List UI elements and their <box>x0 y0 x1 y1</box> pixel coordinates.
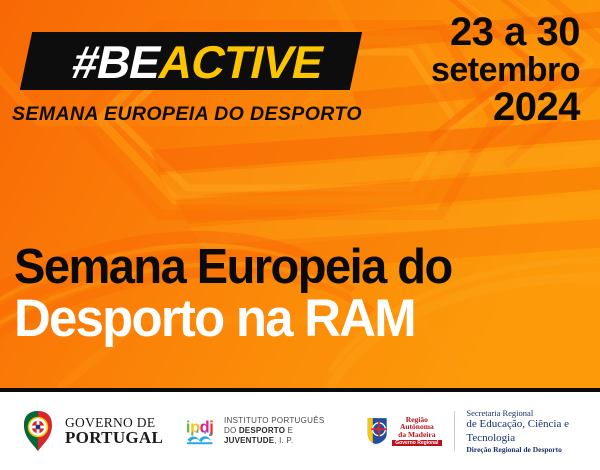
event-dates: 23 a 30 setembro 2024 <box>330 12 580 128</box>
ipdj-line-2-e: , I. P. <box>274 436 293 445</box>
beactive-hash-text: #BE <box>69 39 165 85</box>
headline-line-2: Desporto na RAM <box>14 293 571 345</box>
poster-background: #BEACTIVE SEMANA EUROPEIA DO DESPORTO 23… <box>0 0 600 388</box>
footer-logos: GOVERNO DE PORTUGAL i p d j <box>0 392 600 470</box>
date-range: 23 a 30 <box>330 12 580 53</box>
madeira-text: Região Autónoma da Madeira Governo Regio… <box>392 416 441 447</box>
ipdj-line-2-a: DO <box>224 426 239 435</box>
governo-line-1: GOVERNO DE <box>65 416 163 430</box>
logo-regiao-madeira: Região Autónoma da Madeira Governo Regio… <box>366 414 442 448</box>
portugal-flag-icon <box>18 407 58 455</box>
ipdj-line-2-c: E <box>285 426 293 435</box>
ipdj-text: INSTITUTO PORTUGUÊS DO DESPORTO E JUVENT… <box>224 416 346 446</box>
governo-portugal-text: GOVERNO DE PORTUGAL <box>65 416 163 447</box>
poster-root: #BEACTIVE SEMANA EUROPEIA DO DESPORTO 23… <box>0 0 600 470</box>
date-year: 2024 <box>330 87 580 128</box>
secretaria-line-3: Direção Regional de Desporto <box>466 445 600 454</box>
ipdj-line-2: DO DESPORTO E JUVENTUDE, I. P. <box>224 426 346 446</box>
secretaria-line-2: de Educação, Ciência e Tecnologia <box>466 418 600 445</box>
ipdj-line-2-b: DESPORTO <box>239 426 285 435</box>
logo-ipdj: i p d j INSTITUTO PORTUGUÊS DO DESPORTO … <box>185 411 346 451</box>
madeira-line-1: Região Autónoma <box>392 416 441 432</box>
page-title: Semana Europeia do Desporto na RAM <box>14 243 594 345</box>
logo-governo-portugal: GOVERNO DE PORTUGAL <box>18 407 163 455</box>
madeira-shield-icon <box>366 414 388 448</box>
ipdj-line-2-d: JUVENTUDE <box>224 436 274 445</box>
madeira-line-2: da Madeira <box>392 431 441 439</box>
date-month: setembro <box>330 53 580 88</box>
headline-line-1: Semana Europeia do <box>14 243 571 291</box>
ipdj-line-1: INSTITUTO PORTUGUÊS <box>224 416 346 426</box>
madeira-line-3: Governo Regional <box>392 440 441 446</box>
logo-secretaria-regional: Secretaria Regional de Educação, Ciência… <box>466 408 600 454</box>
footer-divider <box>454 411 455 451</box>
ipdj-letter-d: d <box>200 419 210 437</box>
beactive-active-text: ACTIVE <box>155 39 327 85</box>
ipdj-wordmark-icon: i p d j <box>185 411 218 451</box>
governo-line-2: PORTUGAL <box>65 429 163 446</box>
secretaria-line-1: Secretaria Regional <box>466 408 600 418</box>
beactive-wordmark: #BEACTIVE <box>22 35 373 89</box>
